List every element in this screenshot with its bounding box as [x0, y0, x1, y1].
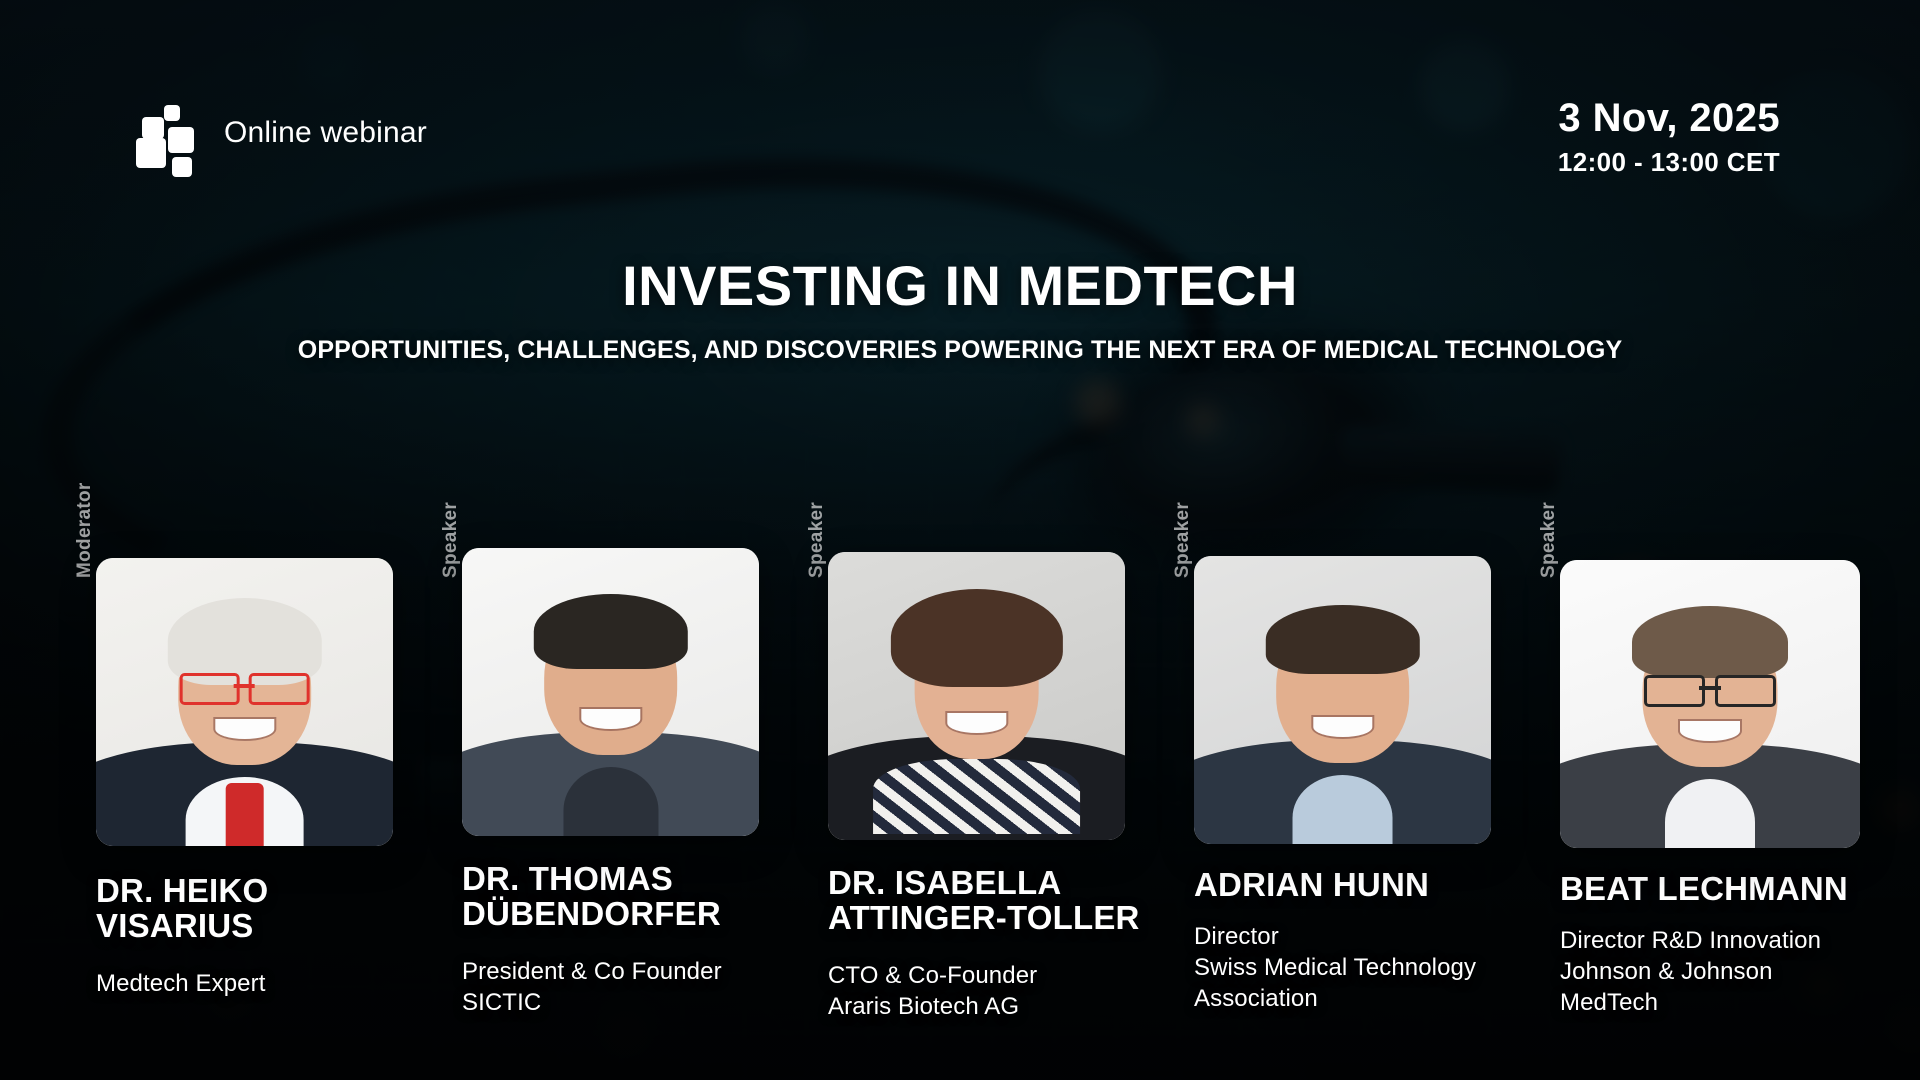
role-tag-0: Moderator	[74, 482, 96, 578]
role-tag-4: Speaker	[1538, 502, 1560, 578]
speaker-photo-0	[96, 558, 393, 846]
speaker-card-4: Speaker BEAT LECHMANN Director R&D Innov…	[1560, 548, 1920, 1019]
speaker-photo-4	[1560, 560, 1860, 848]
speaker-name-1: DR. THOMAS DÜBENDORFER	[462, 862, 828, 932]
speaker-title-4: Director R&D Innovation Johnson & Johnso…	[1560, 925, 1920, 1019]
page-subtitle: OPPORTUNITIES, CHALLENGES, AND DISCOVERI…	[0, 335, 1920, 365]
speaker-card-3: Speaker ADRIAN HUNN Director Swiss Medic…	[1194, 548, 1560, 1015]
speaker-card-0: Moderator DR. HEIKO VISARIUS	[96, 548, 462, 999]
squares-logo-icon	[142, 105, 198, 161]
page-title: INVESTING IN MEDTECH	[0, 255, 1920, 317]
webinar-promo-slide: Online webinar 3 Nov, 2025 12:00 - 13:00…	[0, 0, 1920, 1080]
speaker-name-4: BEAT LECHMANN	[1560, 872, 1920, 907]
speaker-name-3: ADRIAN HUNN	[1194, 868, 1560, 903]
speaker-title-0: Medtech Expert	[96, 968, 462, 999]
speaker-title-1: President & Co Founder SICTIC	[462, 956, 828, 1018]
speaker-photo-3	[1194, 556, 1491, 844]
speaker-name-0: DR. HEIKO VISARIUS	[96, 874, 462, 944]
title-block: INVESTING IN MEDTECH OPPORTUNITIES, CHAL…	[0, 255, 1920, 365]
event-date: 3 Nov, 2025	[1558, 96, 1780, 141]
header: Online webinar 3 Nov, 2025 12:00 - 13:00…	[0, 0, 1920, 210]
brand-label: Online webinar	[224, 116, 427, 150]
speaker-title-3: Director Swiss Medical Technology Associ…	[1194, 921, 1560, 1015]
event-datetime: 3 Nov, 2025 12:00 - 13:00 CET	[1558, 96, 1780, 178]
speaker-name-2: DR. ISABELLA ATTINGER-TOLLER	[828, 866, 1194, 936]
speakers-row: Moderator DR. HEIKO VISARIUS	[0, 548, 1920, 1078]
brand: Online webinar	[142, 105, 427, 161]
speaker-card-1: Speaker DR. THOMAS DÜBENDORFER President…	[462, 548, 828, 1018]
role-tag-1: Speaker	[440, 502, 462, 578]
event-time: 12:00 - 13:00 CET	[1558, 147, 1780, 178]
speaker-card-2: Speaker DR. ISABELLA ATTINGER-TOLLER CTO…	[828, 548, 1194, 1022]
speaker-title-2: CTO & Co-Founder Araris Biotech AG	[828, 960, 1194, 1022]
role-tag-3: Speaker	[1172, 502, 1194, 578]
speaker-photo-2	[828, 552, 1125, 840]
speaker-photo-1	[462, 548, 759, 836]
role-tag-2: Speaker	[806, 502, 828, 578]
